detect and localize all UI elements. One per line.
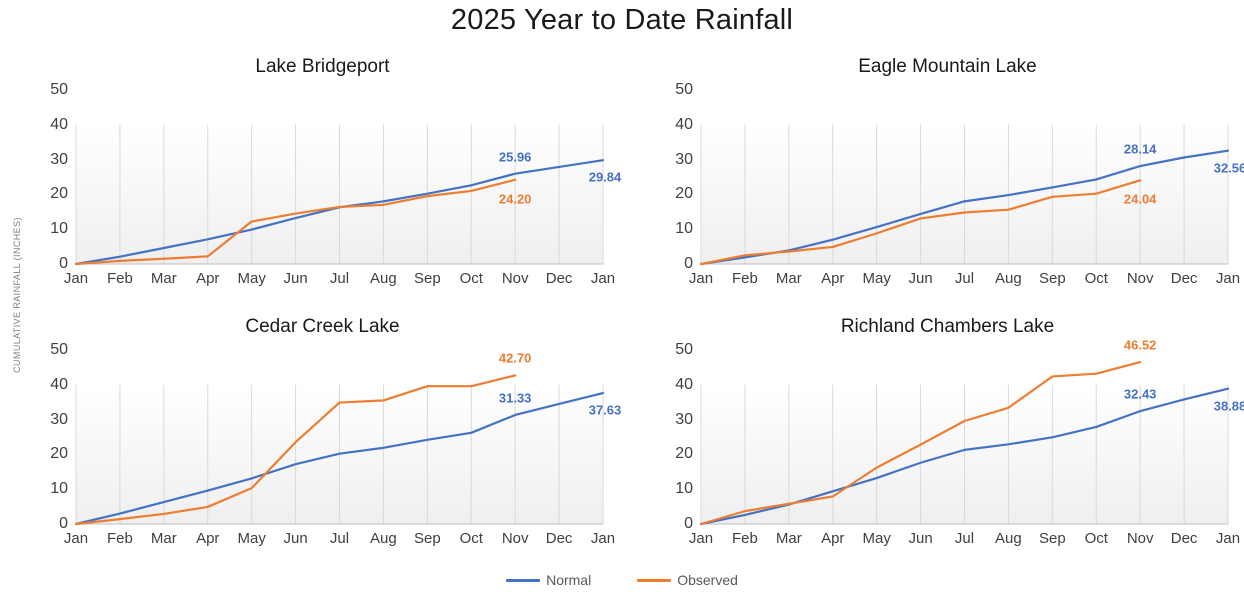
x-tick-label: Oct: [460, 270, 483, 287]
x-tick-label: Jun: [283, 530, 307, 547]
x-tick-label: Jul: [330, 270, 349, 287]
x-tick-label: Jul: [955, 530, 974, 547]
x-axis-tick-row: JanFebMarAprMayJunJulAugSepOctNovDecJan: [30, 266, 615, 290]
page-title: 2025 Year to Date Rainfall: [0, 4, 1244, 37]
chart-panel-eagle-mountain-lake: Eagle Mountain Lake 01020304050JanFebMar…: [655, 56, 1240, 306]
x-tick-label: Jan: [64, 530, 88, 547]
chart-title: Richland Chambers Lake: [655, 316, 1240, 338]
x-tick-label: May: [862, 270, 890, 287]
x-tick-label: Aug: [995, 530, 1022, 547]
data-label-normal-nov: 32.43: [1124, 387, 1157, 402]
y-tick-label: 20: [30, 445, 68, 463]
x-tick-label: Sep: [414, 530, 441, 547]
data-label-observed-nov: 24.04: [1124, 192, 1157, 207]
y-tick-label: 30: [30, 151, 68, 169]
x-tick-label: May: [237, 530, 265, 547]
x-tick-label: Mar: [776, 530, 802, 547]
y-axis-label: CUMULATIVE RAINFALL (INCHES): [12, 195, 22, 395]
data-label-normal-nov: 25.96: [499, 149, 532, 164]
y-tick-label: 10: [655, 480, 693, 498]
x-tick-label: Apr: [196, 270, 219, 287]
y-tick-label: 30: [655, 151, 693, 169]
data-label-normal-end: 37.63: [589, 403, 622, 418]
chart-svg: [655, 344, 1240, 544]
x-tick-label: Feb: [107, 270, 133, 287]
x-tick-label: Feb: [107, 530, 133, 547]
data-label-normal-end: 29.84: [589, 170, 622, 185]
data-label-normal-nov: 28.14: [1124, 142, 1157, 157]
x-tick-label: Jan: [64, 270, 88, 287]
x-tick-label: Jun: [283, 270, 307, 287]
y-tick-label: 20: [655, 185, 693, 203]
x-tick-label: Nov: [1127, 270, 1154, 287]
x-tick-label: May: [862, 530, 890, 547]
chart-title: Lake Bridgeport: [30, 56, 615, 78]
y-tick-label: 20: [30, 185, 68, 203]
y-tick-label: 40: [30, 116, 68, 134]
y-tick-label: 10: [30, 480, 68, 498]
x-tick-label: Oct: [1085, 530, 1108, 547]
x-axis-tick-row: JanFebMarAprMayJunJulAugSepOctNovDecJan: [655, 266, 1240, 290]
y-tick-label: 40: [655, 116, 693, 134]
y-tick-label: 40: [655, 376, 693, 394]
x-tick-label: Feb: [732, 270, 758, 287]
data-label-observed-nov: 46.52: [1124, 338, 1157, 353]
x-tick-label: Jan: [591, 270, 615, 287]
y-tick-label: 50: [30, 341, 68, 359]
chart-svg: [30, 84, 615, 284]
x-tick-label: Feb: [732, 530, 758, 547]
x-tick-label: Jan: [689, 270, 713, 287]
data-label-normal-end: 32.56: [1214, 160, 1244, 175]
legend-swatch-normal: [506, 579, 540, 582]
x-tick-label: Sep: [1039, 270, 1066, 287]
data-label-observed-nov: 24.20: [499, 191, 532, 206]
chart-svg: [655, 84, 1240, 284]
y-tick-label: 30: [655, 411, 693, 429]
y-tick-label: 50: [30, 81, 68, 99]
y-tick-label: 50: [655, 341, 693, 359]
data-label-observed-nov: 42.70: [499, 351, 532, 366]
legend-label-normal: Normal: [546, 572, 591, 588]
x-tick-label: Sep: [1039, 530, 1066, 547]
x-tick-label: Jan: [1216, 530, 1240, 547]
x-tick-label: Nov: [502, 530, 529, 547]
chart-title: Eagle Mountain Lake: [655, 56, 1240, 78]
x-tick-label: Nov: [502, 270, 529, 287]
x-tick-label: Dec: [546, 530, 573, 547]
plot-area: 01020304050JanFebMarAprMayJunJulAugSepOc…: [30, 344, 615, 544]
x-tick-label: Mar: [151, 530, 177, 547]
x-tick-label: Sep: [414, 270, 441, 287]
chart-panel-richland-chambers-lake: Richland Chambers Lake 01020304050JanFeb…: [655, 316, 1240, 566]
plot-area: 01020304050JanFebMarAprMayJunJulAugSepOc…: [655, 84, 1240, 284]
chart-panel-cedar-creek-lake: Cedar Creek Lake 01020304050JanFebMarApr…: [30, 316, 615, 566]
data-label-normal-end: 38.88: [1214, 398, 1244, 413]
x-tick-label: Apr: [821, 530, 844, 547]
x-axis-tick-row: JanFebMarAprMayJunJulAugSepOctNovDecJan: [655, 526, 1240, 550]
y-tick-label: 40: [30, 376, 68, 394]
chart-svg: [30, 344, 615, 544]
x-tick-label: Jan: [1216, 270, 1240, 287]
x-tick-label: Mar: [776, 270, 802, 287]
x-axis-tick-row: JanFebMarAprMayJunJulAugSepOctNovDecJan: [30, 526, 615, 550]
chart-panel-lake-bridgeport: Lake Bridgeport 01020304050JanFebMarAprM…: [30, 56, 615, 306]
y-tick-label: 30: [30, 411, 68, 429]
x-tick-label: Jul: [330, 530, 349, 547]
x-tick-label: Apr: [821, 270, 844, 287]
chart-legend: Normal Observed: [0, 572, 1244, 588]
x-tick-label: Jan: [689, 530, 713, 547]
x-tick-label: Oct: [460, 530, 483, 547]
x-tick-label: Aug: [370, 530, 397, 547]
plot-area: 01020304050JanFebMarAprMayJunJulAugSepOc…: [655, 344, 1240, 544]
x-tick-label: Nov: [1127, 530, 1154, 547]
x-tick-label: Jun: [908, 270, 932, 287]
legend-label-observed: Observed: [677, 572, 738, 588]
x-tick-label: Aug: [995, 270, 1022, 287]
x-tick-label: May: [237, 270, 265, 287]
chart-title: Cedar Creek Lake: [30, 316, 615, 338]
x-tick-label: Aug: [370, 270, 397, 287]
x-tick-label: Jul: [955, 270, 974, 287]
x-tick-label: Dec: [1171, 270, 1198, 287]
y-tick-label: 20: [655, 445, 693, 463]
plot-area: 01020304050JanFebMarAprMayJunJulAugSepOc…: [30, 84, 615, 284]
legend-item-normal[interactable]: Normal: [506, 572, 591, 588]
x-tick-label: Jun: [908, 530, 932, 547]
legend-swatch-observed: [637, 579, 671, 582]
x-tick-label: Oct: [1085, 270, 1108, 287]
x-tick-label: Apr: [196, 530, 219, 547]
y-tick-label: 10: [655, 220, 693, 238]
x-tick-label: Dec: [546, 270, 573, 287]
x-tick-label: Mar: [151, 270, 177, 287]
y-tick-label: 50: [655, 81, 693, 99]
legend-item-observed[interactable]: Observed: [637, 572, 738, 588]
x-tick-label: Dec: [1171, 530, 1198, 547]
x-tick-label: Jan: [591, 530, 615, 547]
data-label-normal-nov: 31.33: [499, 390, 532, 405]
y-tick-label: 10: [30, 220, 68, 238]
